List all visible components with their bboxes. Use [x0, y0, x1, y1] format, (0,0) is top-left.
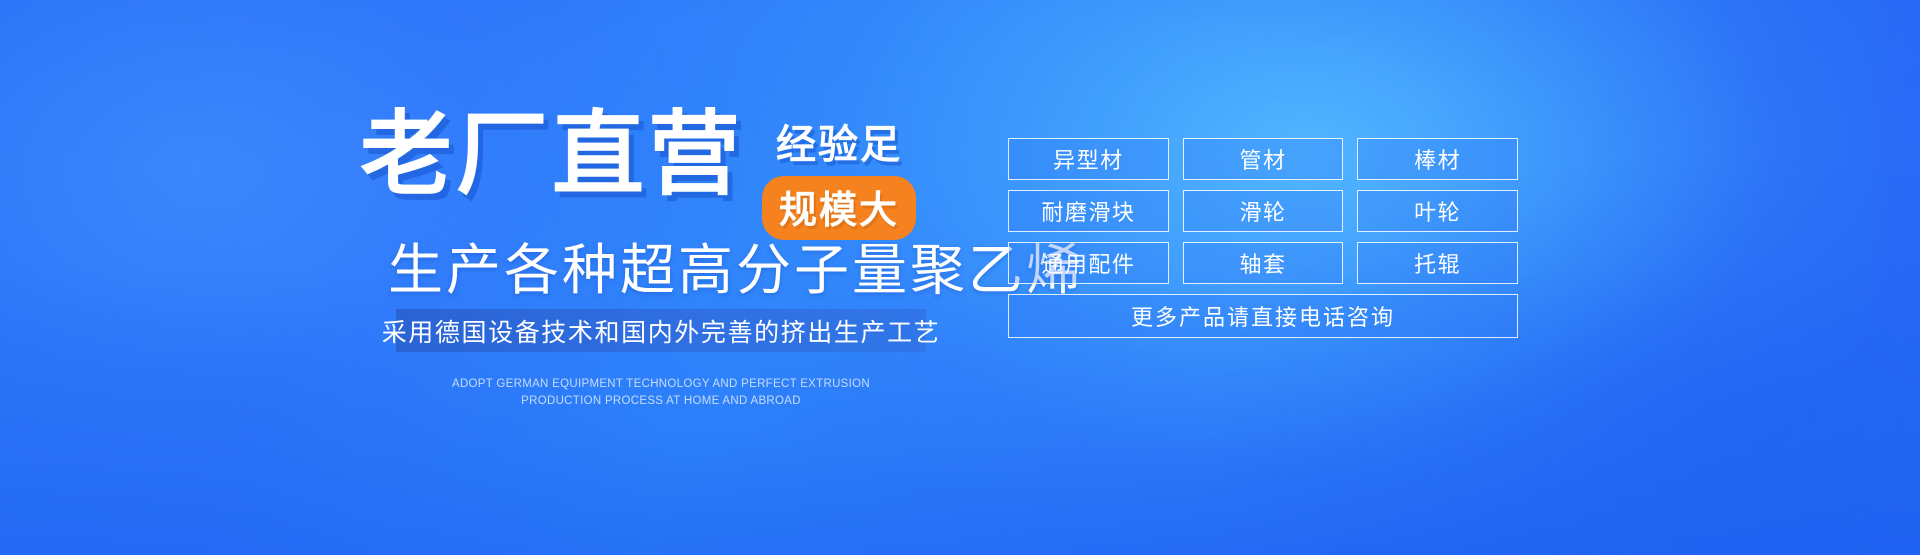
product-button-tuogun[interactable]: 托辊: [1357, 242, 1518, 284]
product-button-tongyongpeijian[interactable]: 通用配件: [1008, 242, 1169, 284]
product-button-yixingcai[interactable]: 异型材: [1008, 138, 1169, 180]
product-button-label: 异型材: [1053, 143, 1124, 175]
badge-experience: 经验足: [776, 112, 902, 170]
badge-scale: 规模大: [762, 176, 916, 240]
product-button-zhoutao[interactable]: 轴套: [1183, 242, 1344, 284]
product-row-3: 通用配件 轴套 托辊: [1008, 242, 1518, 284]
product-button-label: 棒材: [1414, 143, 1461, 175]
product-category-grid: 异型材 管材 棒材 耐磨滑块 滑轮 叶轮 通用配件: [1008, 138, 1518, 338]
product-button-label: 叶轮: [1414, 195, 1461, 227]
product-button-label: 滑轮: [1240, 195, 1287, 227]
english-subtitle: ADOPT GERMAN EQUIPMENT TECHNOLOGY AND PE…: [396, 376, 926, 410]
product-button-label: 管材: [1240, 143, 1287, 175]
product-button-hualun[interactable]: 滑轮: [1183, 190, 1344, 232]
product-button-label: 耐磨滑块: [1041, 195, 1135, 227]
product-button-guancai[interactable]: 管材: [1183, 138, 1344, 180]
product-button-yelun[interactable]: 叶轮: [1357, 190, 1518, 232]
page-title: 老厂直营: [360, 108, 744, 202]
product-button-label: 托辊: [1414, 247, 1461, 279]
product-button-bangcai[interactable]: 棒材: [1357, 138, 1518, 180]
headline-block: 老厂直营 经验足 规模大 生产各种超高分子量聚乙烯 采用德国设备技术和国内外完善…: [0, 0, 980, 555]
product-row-cta: 更多产品请直接电话咨询: [1008, 294, 1518, 338]
contact-cta-label: 更多产品请直接电话咨询: [1131, 300, 1395, 332]
english-line-2: PRODUCTION PROCESS AT HOME AND ABROAD: [396, 393, 926, 410]
tagline-text: 采用德国设备技术和国内外完善的挤出生产工艺: [382, 313, 941, 349]
headline-row: 老厂直营 经验足 规模大: [360, 108, 916, 240]
promo-banner: 老厂直营 经验足 规模大 生产各种超高分子量聚乙烯 采用德国设备技术和国内外完善…: [0, 0, 1920, 555]
product-row-1: 异型材 管材 棒材: [1008, 138, 1518, 180]
subheadline: 生产各种超高分子量聚乙烯: [388, 240, 1084, 301]
product-button-label: 轴套: [1240, 247, 1287, 279]
badge-stack: 经验足 规模大: [762, 108, 916, 240]
tagline-bar: 采用德国设备技术和国内外完善的挤出生产工艺: [396, 309, 926, 352]
english-line-1: ADOPT GERMAN EQUIPMENT TECHNOLOGY AND PE…: [396, 376, 926, 393]
product-button-label: 通用配件: [1041, 247, 1135, 279]
product-row-2: 耐磨滑块 滑轮 叶轮: [1008, 190, 1518, 232]
contact-cta-button[interactable]: 更多产品请直接电话咨询: [1008, 294, 1518, 338]
product-button-naimohuakuai[interactable]: 耐磨滑块: [1008, 190, 1169, 232]
